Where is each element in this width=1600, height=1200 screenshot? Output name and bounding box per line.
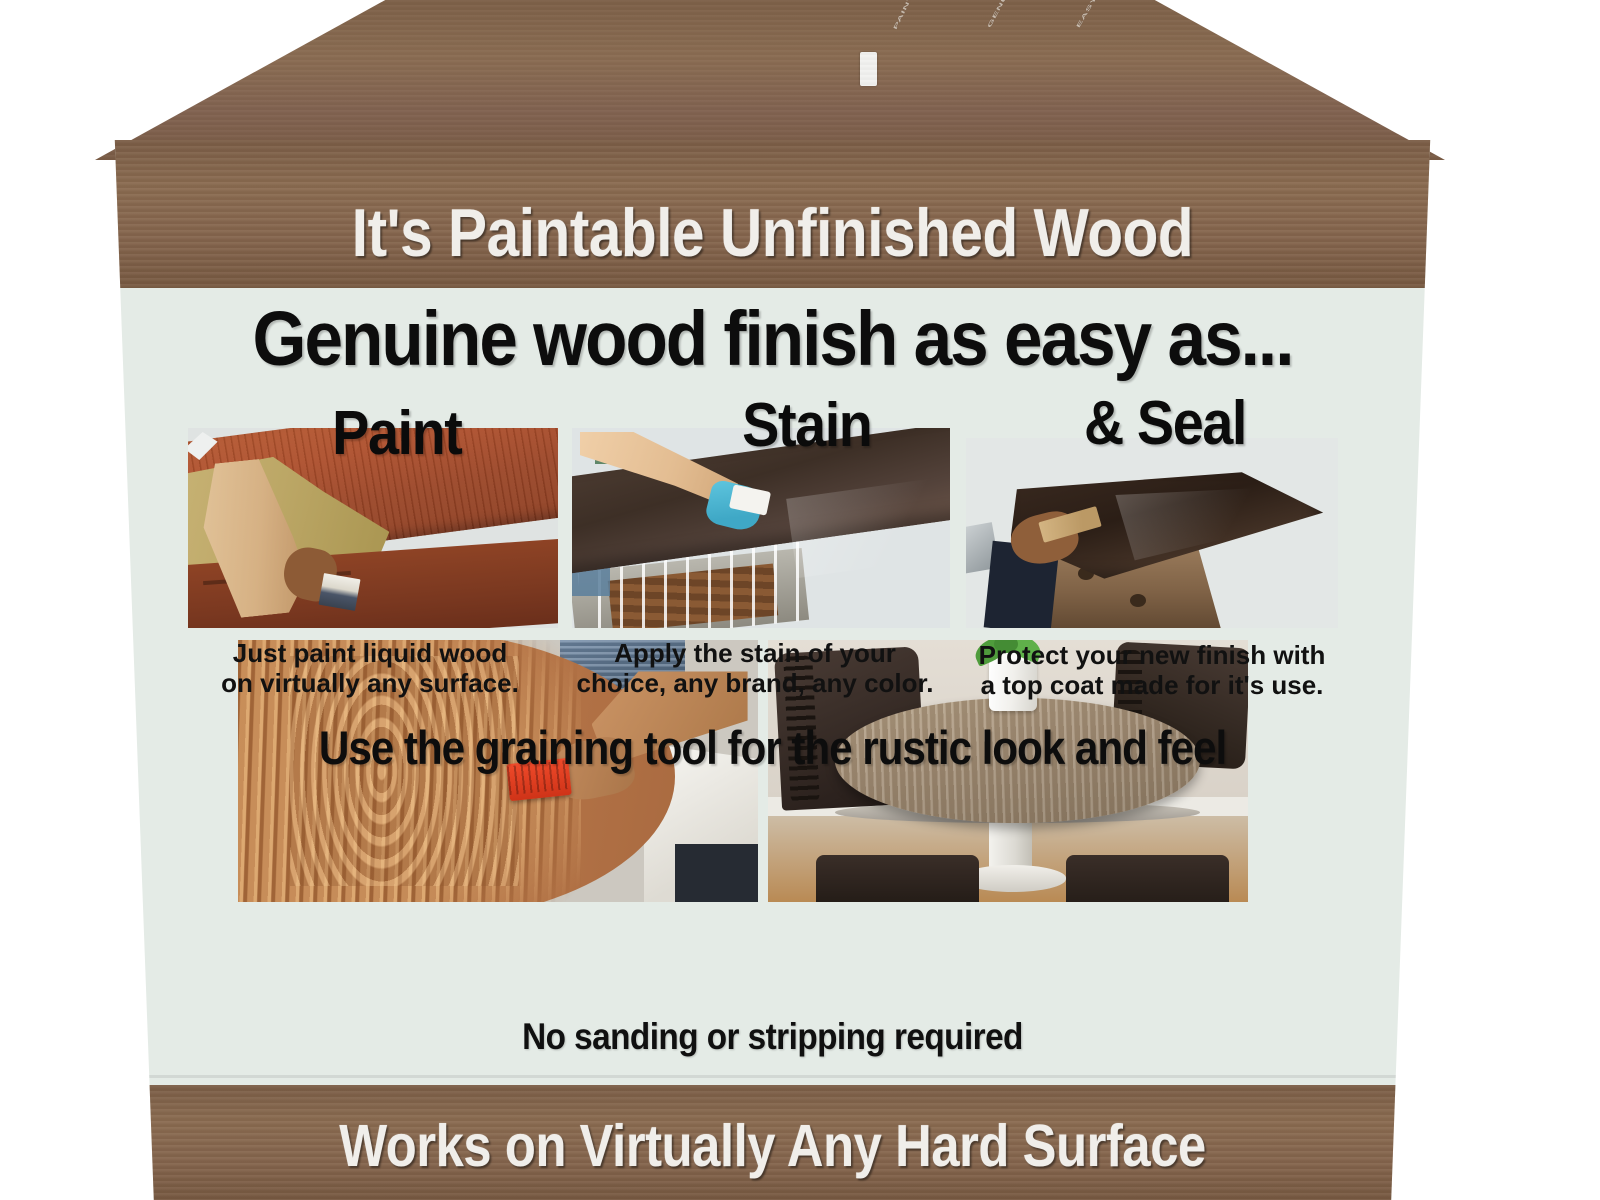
panel-divider bbox=[100, 1075, 1445, 1078]
drawer-knob bbox=[1130, 594, 1146, 607]
box-front-face: It's Paintable Unfinished Wood Genuine w… bbox=[100, 140, 1445, 1200]
footer-band: Works on Virtually Any Hard Surface bbox=[100, 1085, 1445, 1200]
step-label-paint: Paint bbox=[332, 398, 461, 469]
footer-band-title: Works on Virtually Any Hard Surface bbox=[194, 1112, 1351, 1180]
corrugated-edge-right bbox=[1435, 140, 1445, 1200]
caption-seal-line-2: a top coat made for it's use. bbox=[932, 670, 1372, 700]
header-band-title: It's Paintable Unfinished Wood bbox=[194, 194, 1351, 272]
lid-tab bbox=[860, 52, 877, 86]
paint-brush-icon bbox=[319, 573, 361, 611]
lid-text-line-3: EASY AS PAINT STAIN SEAL bbox=[1075, 0, 1171, 29]
graining-subheadline: Use the graining tool for the rustic loo… bbox=[167, 720, 1378, 775]
caption-seal-line-1: Protect your new finish with bbox=[932, 640, 1372, 670]
dining-chair-front-left bbox=[816, 855, 979, 902]
caption-seal: Protect your new finish with a top coat … bbox=[932, 640, 1372, 700]
lid-text-line-2: GENUINE WOOD FINISH bbox=[986, 0, 1064, 29]
lid-text-line-4: WORKS ON ANY HARD SURFACE bbox=[1235, 0, 1408, 24]
page-headline: Genuine wood finish as easy as... bbox=[167, 295, 1378, 384]
top-coat-seal-photo bbox=[966, 438, 1338, 628]
caption-paint: Just paint liquid wood on virtually any … bbox=[160, 638, 580, 698]
caption-stain-line-1: Apply the stain of your bbox=[540, 638, 970, 668]
corrugated-edge-left bbox=[100, 140, 110, 1200]
dark-floor-area bbox=[675, 844, 758, 902]
caption-paint-line-1: Just paint liquid wood bbox=[160, 638, 580, 668]
step-label-seal: & Seal bbox=[1084, 388, 1246, 459]
caption-stain-line-2: choice, any brand, any color. bbox=[540, 668, 970, 698]
no-sanding-footnote: No sanding or stripping required bbox=[167, 1016, 1378, 1058]
dining-chair-front-right bbox=[1066, 855, 1229, 902]
lid-text-group: PAINTABLE UNFINISHED WOOD GENUINE WOOD F… bbox=[890, 18, 1410, 118]
lid-text-line-1: PAINTABLE UNFINISHED WOOD bbox=[892, 0, 987, 31]
box-lid-top-face: PAINTABLE UNFINISHED WOOD GENUINE WOOD F… bbox=[95, 0, 1445, 160]
step-label-stain: Stain bbox=[742, 390, 871, 461]
caption-paint-line-2: on virtually any surface. bbox=[160, 668, 580, 698]
caption-stain: Apply the stain of your choice, any bran… bbox=[540, 638, 970, 698]
display-box-screenshot: PAINTABLE UNFINISHED WOOD GENUINE WOOD F… bbox=[0, 0, 1600, 1200]
